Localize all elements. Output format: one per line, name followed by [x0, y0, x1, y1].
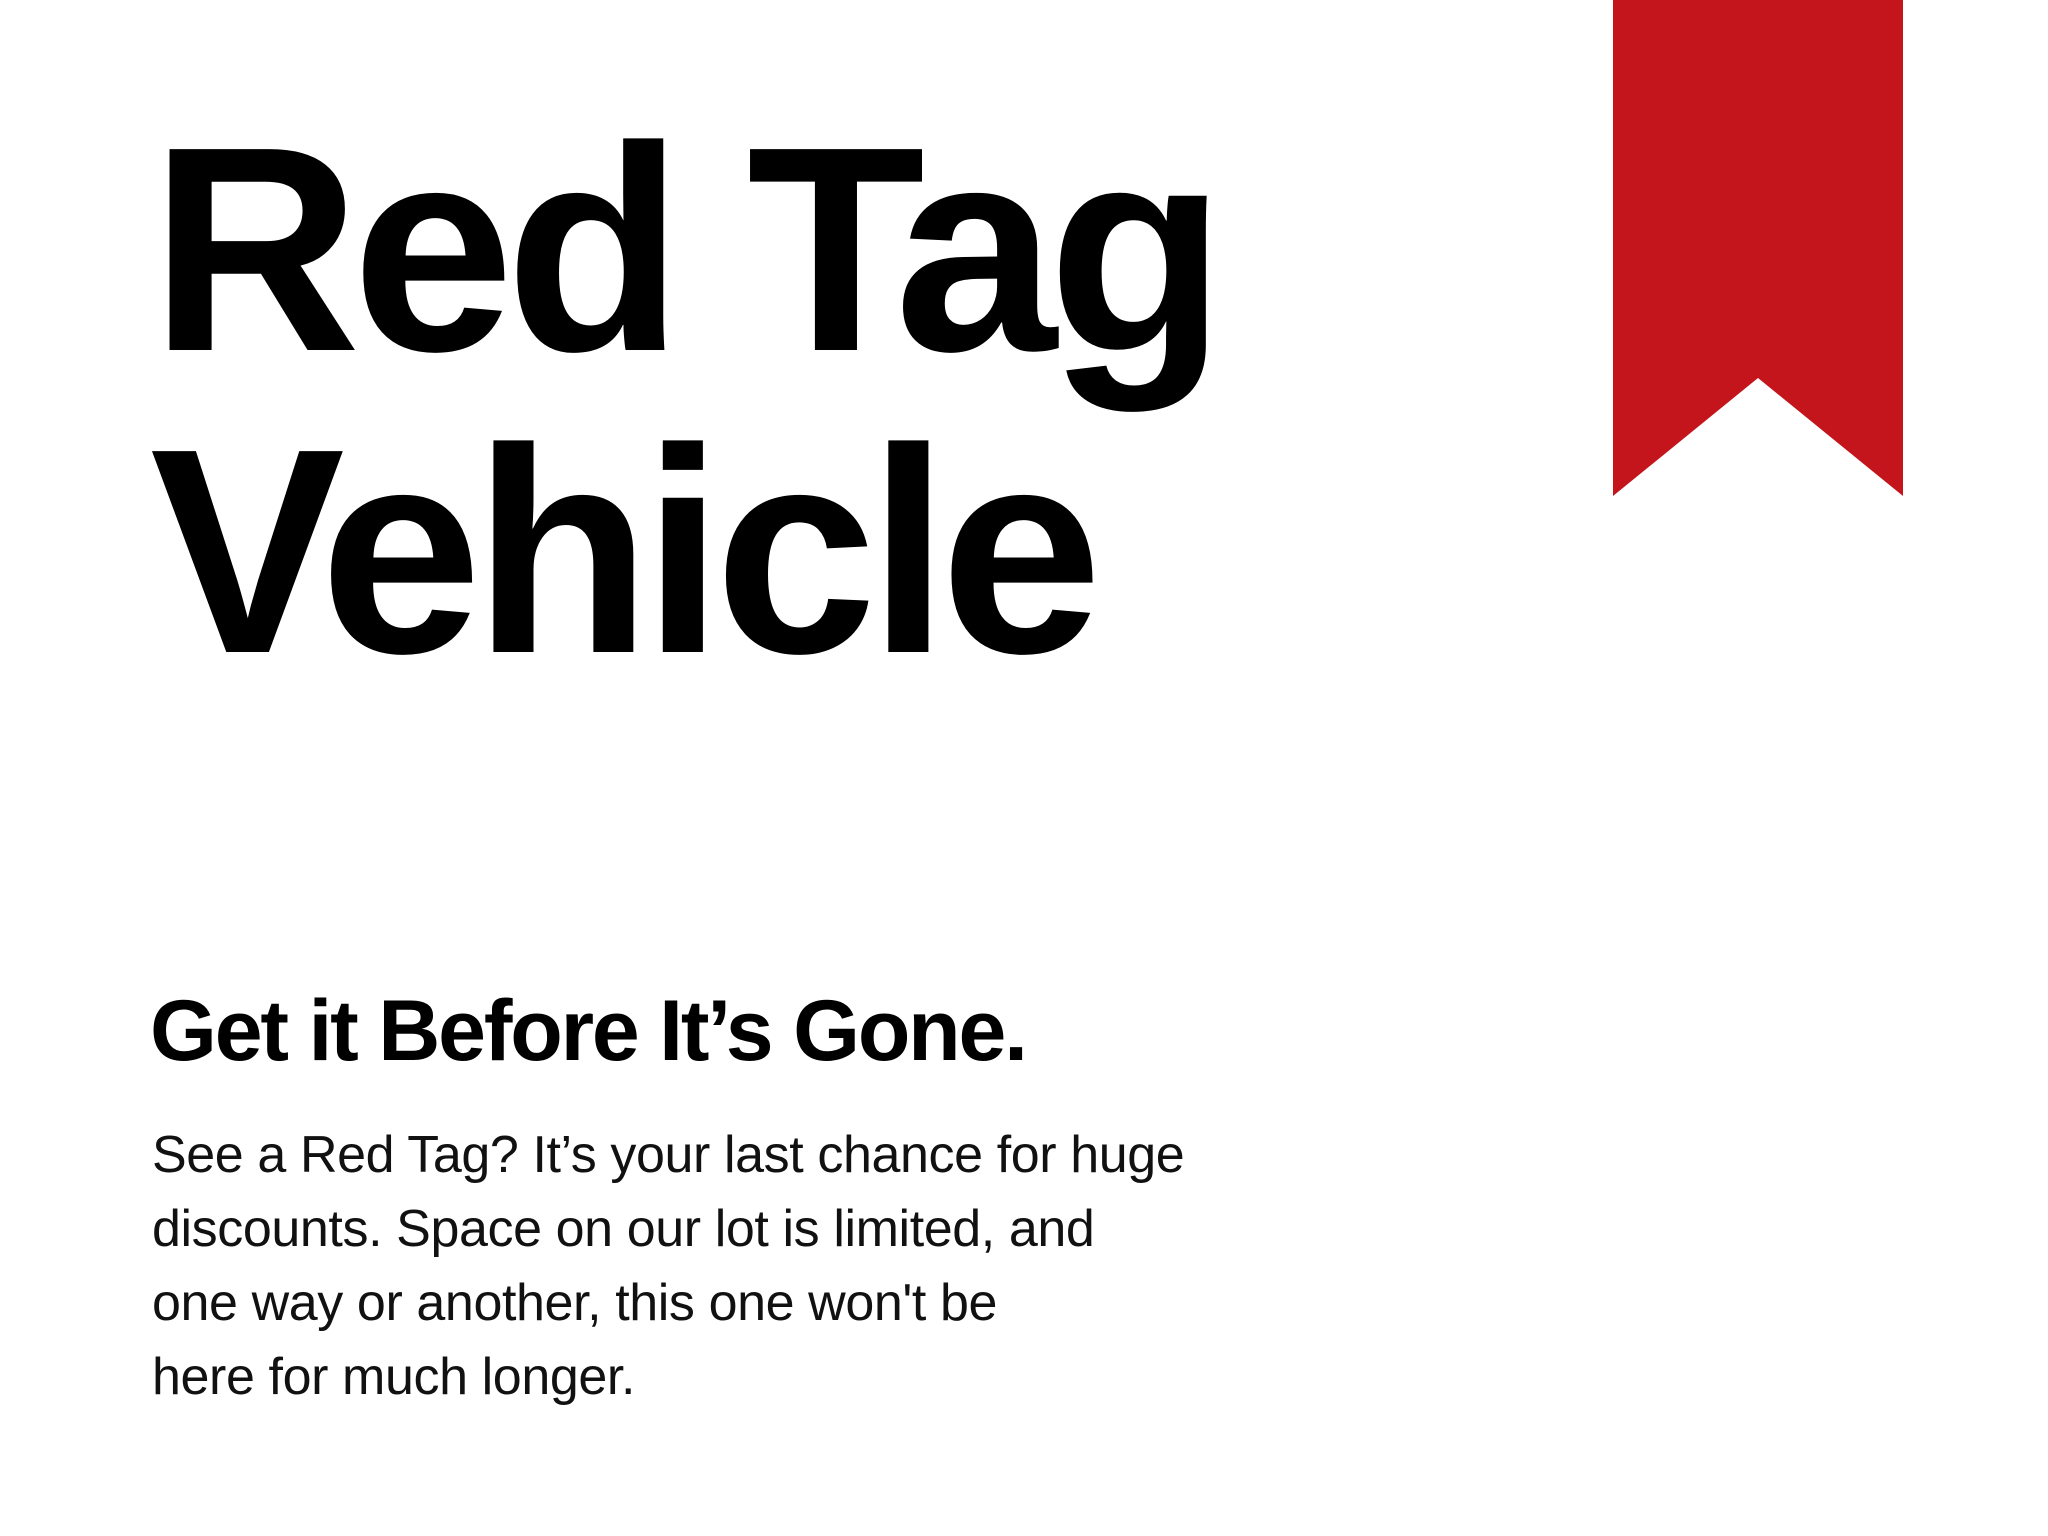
page-title: Red Tag Vehicle [150, 98, 1490, 702]
ribbon-svg [1613, 0, 1903, 496]
red-tag-ribbon-icon [1613, 0, 1903, 496]
red-tag-vehicle-poster: Red Tag Vehicle Get it Before It’s Gone.… [0, 0, 2048, 1536]
ribbon-shape [1613, 0, 1903, 496]
body-paragraph: See a Red Tag? It’s your last chance for… [152, 1118, 1272, 1414]
subheadline: Get it Before It’s Gone. [150, 983, 1450, 1079]
